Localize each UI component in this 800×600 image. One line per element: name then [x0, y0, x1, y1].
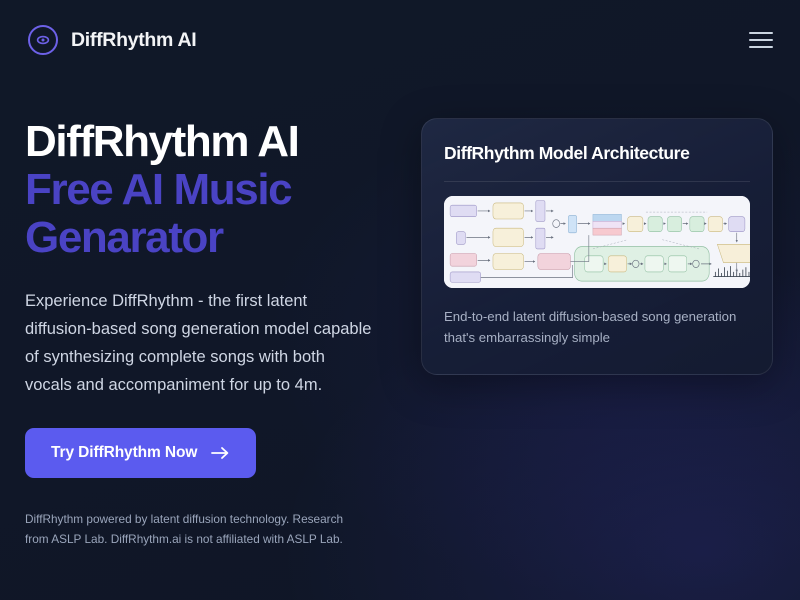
- architecture-card: DiffRhythm Model Architecture: [421, 118, 773, 375]
- title-line-primary: DiffRhythm AI: [25, 118, 397, 166]
- title-line-accent-1: Free AI Music: [25, 166, 397, 214]
- eye-circle-logo-icon: [28, 25, 58, 55]
- architecture-diagram-image: [444, 196, 750, 288]
- main-content: DiffRhythm AI Free AI Music Genarator Ex…: [0, 80, 800, 549]
- footnote-text: DiffRhythm powered by latent diffusion t…: [25, 509, 365, 549]
- site-header: DiffRhythm AI: [0, 0, 800, 80]
- arrow-right-icon: [211, 446, 230, 460]
- hero-section: DiffRhythm AI Free AI Music Genarator Ex…: [25, 118, 397, 549]
- menu-line-1: [749, 32, 773, 34]
- architecture-card-caption: End-to-end latent diffusion-based song g…: [444, 306, 750, 348]
- menu-line-2: [749, 39, 773, 41]
- menu-line-3: [749, 46, 773, 48]
- card-divider: [444, 181, 750, 182]
- try-diffrhythm-button[interactable]: Try DiffRhythm Now: [25, 428, 256, 478]
- landing-page: DiffRhythm AI DiffRhythm AI Free AI Musi…: [0, 0, 800, 600]
- page-title: DiffRhythm AI Free AI Music Genarator: [25, 118, 397, 262]
- brand-name: DiffRhythm AI: [71, 29, 196, 52]
- title-line-accent-2: Genarator: [25, 214, 397, 262]
- cta-label: Try DiffRhythm Now: [51, 444, 197, 462]
- architecture-card-title: DiffRhythm Model Architecture: [444, 143, 750, 164]
- hamburger-menu-icon[interactable]: [746, 25, 776, 55]
- brand-logo[interactable]: DiffRhythm AI: [28, 25, 196, 55]
- hero-description: Experience DiffRhythm - the first latent…: [25, 287, 375, 399]
